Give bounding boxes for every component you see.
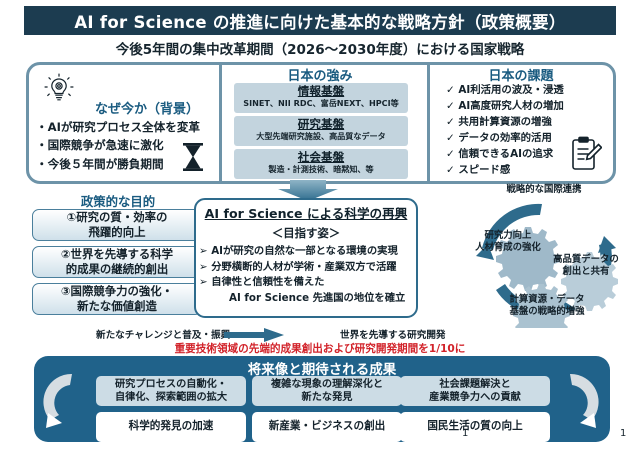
outcome-top-1: 研究プロセスの自動化・自律化、探索範囲の拡大 (96, 376, 246, 406)
slide-root: AI for Science の推進に向けた基本的な戦略方針（政策概要） 今後5… (0, 0, 640, 450)
clipboard-pencil-icon (570, 136, 602, 172)
cycle-gear-label-3: 計算資源・データ基盤の戦略的増強 (488, 294, 606, 318)
strength-detail: 製造・計測技術、暗黙知、等 (234, 164, 408, 175)
mid-band-highlight: 重要技術領域の先端的成果創出および研究開発期間を1/10に (0, 341, 640, 356)
policy-aim-1: ①研究の質・効率の飛躍的向上 (32, 209, 202, 241)
page-number-inner: 1 (462, 428, 468, 439)
outcome-bottom-1: 科学的発見の加速 (96, 412, 246, 442)
virtuous-cycle-diagram: 戦略的な国際連携 研究力向上人材育成の強化 高品質データの創出と共有 計算資源・… (452, 186, 638, 328)
cycle-gear-label-2: 高品質データの創出と共有 (534, 254, 638, 278)
vision-heading: AI for Science による科学の再興 (194, 203, 418, 222)
outcome-bottom-2: 新産業・ビジネスの創出 (252, 412, 402, 442)
cycle-gear-label-1: 研究力向上人材育成の強化 (458, 230, 558, 254)
issue-item: ✓ AI高度研究人材の増加 (446, 99, 614, 115)
strength-heading: 社会基盤 (234, 150, 408, 164)
strength-detail: SINET、NII RDC、富岳NEXT、HPCI等 (234, 98, 408, 109)
strengths-box: 日本の強み 情報基盤 SINET、NII RDC、富岳NEXT、HPCI等 研究… (222, 64, 418, 182)
outcome-bottom-3: 国民生活の質の向上 (400, 412, 550, 442)
page-subtitle: 今後5年間の集中改革期間（2026〜2030年度）における国家戦略 (24, 38, 616, 58)
strength-card-research: 研究基盤 大型先端研究施設、高品質なデータ (234, 116, 408, 146)
issue-item: ✓ AI利活用の波及・浸透 (446, 83, 614, 99)
cycle-top-label: 戦略的な国際連携 (474, 184, 614, 196)
vision-item: AI for Science 先進国の地位を確立 (199, 291, 415, 307)
strength-heading: 研究基盤 (234, 117, 408, 131)
vision-subheading: ＜目指す姿＞ (194, 225, 418, 241)
vision-list: ➢ AIが研究の自然な一部となる環境の実現 ➢ 分野横断的人材が学術・産業双方で… (199, 244, 415, 307)
vision-item: ➢ 分野横断的人材が学術・産業双方で活躍 (199, 260, 415, 276)
vision-item: ➢ 自律性と信頼性を備えた (199, 275, 415, 291)
strength-heading: 情報基盤 (234, 84, 408, 98)
issues-box: 日本の課題 ✓ AI利活用の波及・浸透 ✓ AI高度研究人材の増加 ✓ 共用計算… (428, 64, 614, 182)
strength-card-society: 社会基盤 製造・計測技術、暗黙知、等 (234, 149, 408, 179)
strength-detail: 大型先端研究施設、高品質なデータ (234, 131, 408, 142)
page-title: AI for Science の推進に向けた基本的な戦略方針（政策概要） (24, 6, 616, 35)
issues-title: 日本の課題 (428, 65, 614, 84)
mid-band-arrow-icon (224, 328, 286, 342)
hourglass-icon (180, 142, 206, 172)
strength-card-information: 情報基盤 SINET、NII RDC、富岳NEXT、HPCI等 (234, 83, 408, 113)
outcome-top-3: 社会課題解決と産業競争力への貢献 (400, 376, 550, 406)
lightbulb-icon (42, 72, 76, 104)
outcomes-title: 将来像と期待される成果 (34, 358, 610, 378)
policy-aim-2: ②世界を先導する科学的成果の継続的創出 (32, 246, 202, 278)
policy-aims-title: 政策的な目的 (34, 192, 202, 210)
cycle-arrow-right-icon (556, 372, 602, 432)
policy-aim-3: ③国際競争力の強化・新たな価値創造 (32, 283, 202, 315)
issue-item: ✓ 共用計算資源の増強 (446, 115, 614, 131)
strengths-title: 日本の強み (222, 65, 418, 84)
vision-item: ➢ AIが研究の自然な一部となる環境の実現 (199, 244, 415, 260)
background-item: ・AIが研究プロセス全体を変革 (36, 118, 212, 136)
background-box: なぜ今か（背景） ・AIが研究プロセス全体を変革 ・国際競争が急速に激化 ・今後… (30, 66, 212, 180)
mid-band-right-label: 世界を先導する研究開発 (340, 327, 446, 341)
outcome-top-2: 複雑な現象の理解深化と新たな発見 (252, 376, 402, 406)
mid-band-left-label: 新たなチャレンジと普及・振興 (96, 327, 230, 341)
cycle-arrow-left-icon (40, 372, 86, 432)
page-number: 1 (620, 428, 626, 439)
background-title: なぜ今か（背景） (88, 98, 206, 117)
